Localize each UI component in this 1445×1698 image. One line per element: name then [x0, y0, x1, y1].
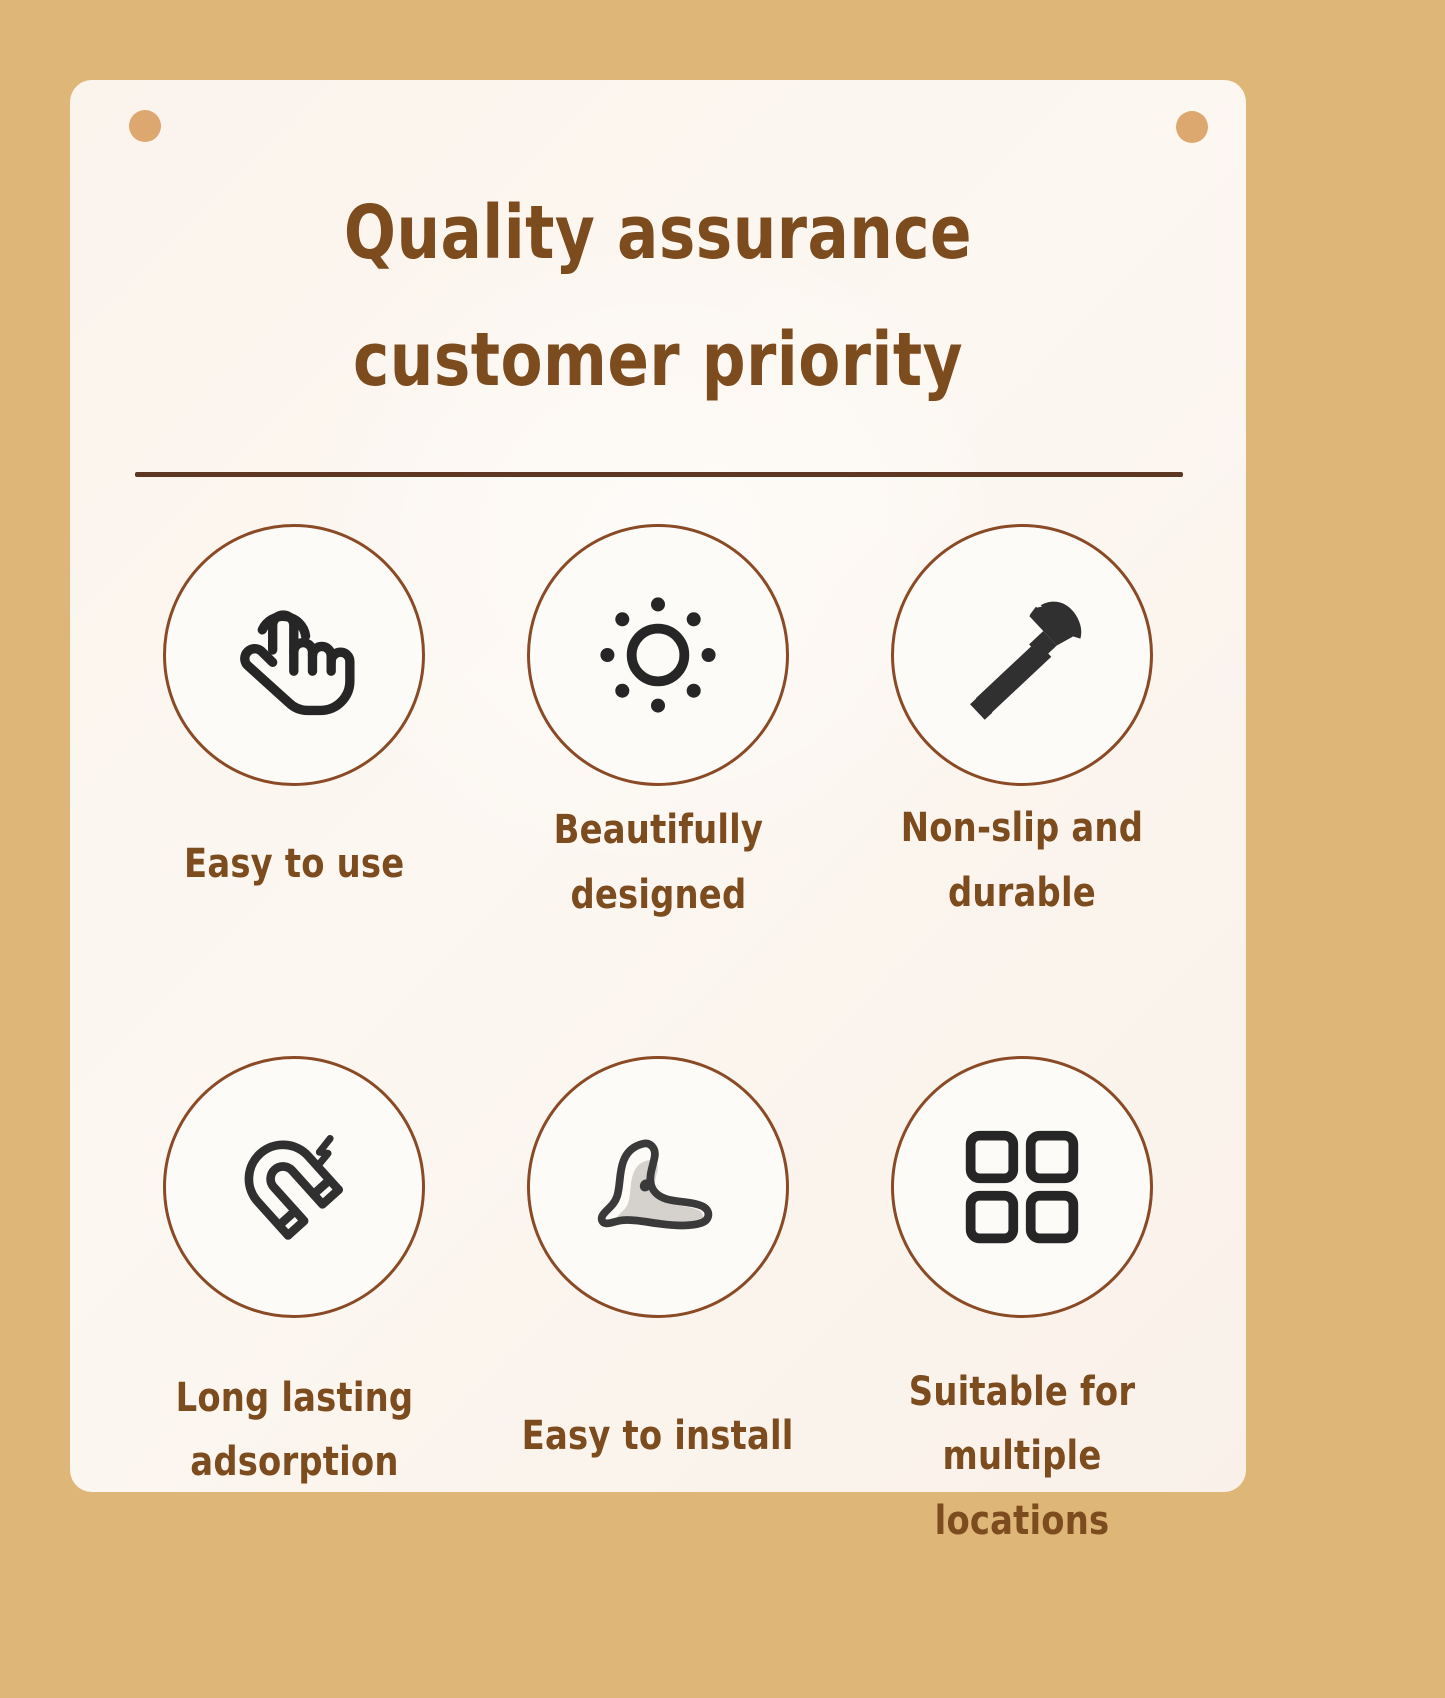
- feature-item-long-lasting-adsorption: Long lasting adsorption: [124, 1056, 464, 1496]
- feature-item-non-slip-and-durable: Non-slip and durable: [852, 524, 1192, 926]
- tap-hand-icon: [229, 590, 359, 720]
- feature-label-non-slip-and-durable: Non-slip and durable: [901, 796, 1143, 926]
- title-divider: [135, 472, 1183, 477]
- icon-circle-easy-to-install: [527, 1056, 789, 1318]
- hammer-icon: [951, 584, 1093, 726]
- feature-card: Quality assurance customer priority: [70, 80, 1246, 1492]
- icon-circle-suitable-for-multiple-locations: [891, 1056, 1153, 1318]
- feature-row: Easy to use: [70, 524, 1246, 928]
- page-title: Quality assurance customer priority: [117, 170, 1199, 425]
- feature-label-long-lasting-adsorption: Long lasting adsorption: [175, 1366, 413, 1496]
- icon-circle-easy-to-use: [163, 524, 425, 786]
- hanging-hole-left-icon: [129, 110, 161, 142]
- bare-foot-icon: [583, 1112, 733, 1262]
- hanging-hole-right-icon: [1176, 111, 1208, 143]
- feature-item-suitable-for-multiple-locations: Suitable for multiple locations: [852, 1056, 1192, 1554]
- icon-circle-long-lasting-adsorption: [163, 1056, 425, 1318]
- feature-row: Long lasting adsorption: [70, 1056, 1246, 1554]
- feature-item-beautifully-designed: Beautifully designed: [488, 524, 828, 928]
- feature-label-beautifully-designed: Beautifully designed: [553, 798, 762, 928]
- icon-circle-beautifully-designed: [527, 524, 789, 786]
- feature-item-easy-to-use: Easy to use: [124, 524, 464, 897]
- icon-circle-non-slip-and-durable: [891, 524, 1153, 786]
- magnet-icon: [228, 1121, 360, 1253]
- feature-item-easy-to-install: Easy to install: [488, 1056, 828, 1469]
- feature-grid: Easy to use: [70, 510, 1246, 1554]
- feature-label-easy-to-use: Easy to use: [184, 832, 404, 897]
- four-squares-grid-icon: [960, 1125, 1084, 1249]
- feature-label-easy-to-install: Easy to install: [522, 1404, 794, 1469]
- feature-label-suitable-for-multiple-locations: Suitable for multiple locations: [862, 1360, 1182, 1554]
- sun-brightness-icon: [590, 587, 726, 723]
